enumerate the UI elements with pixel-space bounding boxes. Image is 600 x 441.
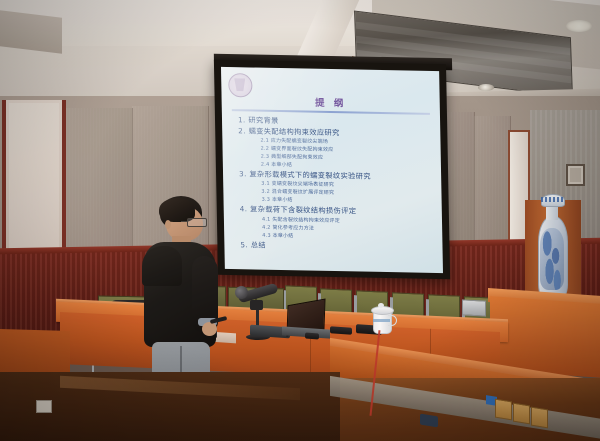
remote-control[interactable] — [330, 326, 352, 335]
hand — [202, 322, 217, 336]
desk-monitor[interactable] — [462, 299, 486, 316]
conference-room-photo: 提 纲 1. 研究背景 2. 蠕变失配结构拘束效应研究 2.1 应力失配蠕变裂纹… — [0, 0, 600, 441]
shoulder — [142, 246, 182, 286]
door-header — [0, 10, 62, 54]
screen-glare — [221, 67, 443, 273]
microphone-capsule — [235, 286, 248, 299]
floor-outlet[interactable] — [531, 407, 548, 429]
glasses-icon — [187, 218, 207, 227]
ear — [165, 220, 171, 229]
microphone-joint — [250, 300, 263, 310]
ceiling-light-icon — [566, 20, 592, 32]
projection-screen[interactable]: 提 纲 1. 研究背景 2. 蠕变失配结构拘束效应研究 2.1 应力失配蠕变裂纹… — [221, 67, 443, 273]
porcelain-vase — [536, 194, 568, 300]
framed-picture — [566, 164, 585, 186]
floor-outlet[interactable] — [495, 399, 512, 421]
wall-socket[interactable] — [36, 400, 52, 413]
ceiling-light-icon — [478, 84, 494, 91]
desk-device[interactable] — [305, 333, 319, 340]
teacup-knob — [378, 303, 384, 308]
floor-outlet[interactable] — [513, 403, 530, 425]
